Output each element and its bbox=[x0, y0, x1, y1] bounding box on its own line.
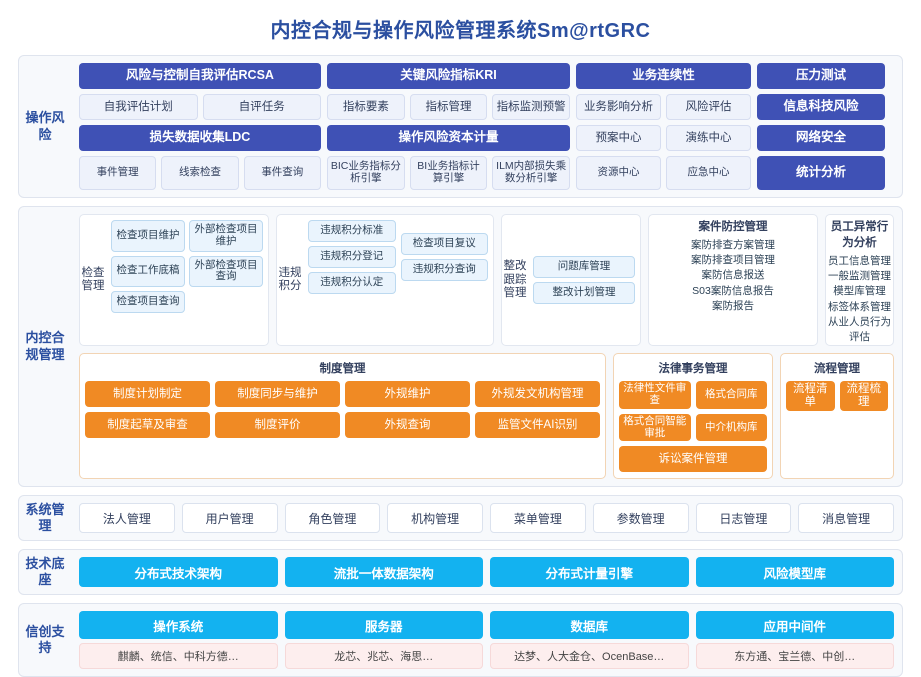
card-case-prevention: 案件防控管理 案防排查方案管理 案防排查项目管理 案防信息报送 S03案防信息报… bbox=[648, 214, 818, 346]
op-column-bcm: 业务连续性 业务影响分析 风险评估 预案中心 演练中心 资源中心 应急中心 bbox=[576, 63, 751, 190]
module-op-risk-capital[interactable]: 操作风险资本计量 bbox=[327, 125, 570, 151]
pill-issue-library[interactable]: 问题库管理 bbox=[533, 256, 635, 278]
box-title-policy-manage: 制度管理 bbox=[85, 358, 600, 381]
diagram-page: 内控合规与操作风险管理系统Sm@rtGRC 操作风险 风险与控制自我评估RCSA… bbox=[0, 0, 921, 640]
sub-clue-check[interactable]: 线索检查 bbox=[161, 156, 238, 190]
pill-grid-violation: 违规积分标准 违规积分登记 违规积分认定 bbox=[308, 220, 396, 294]
chip-batch-stream-data-architecture[interactable]: 流批一体数据架构 bbox=[285, 557, 484, 587]
chip-process-list[interactable]: 流程清单 bbox=[786, 381, 835, 411]
chip-policy-draft-review[interactable]: 制度起草及审查 bbox=[85, 412, 210, 438]
ldc-sub-row: 事件管理 线索检查 事件查询 bbox=[79, 156, 321, 190]
violation-points-columns: 违规积分标准 违规积分登记 违规积分认定 检查项目复议 违规积分查询 bbox=[308, 220, 488, 294]
card-side-rectification: 整改跟踪管理 bbox=[502, 215, 528, 345]
module-it-risk[interactable]: 信息科技风险 bbox=[757, 94, 885, 120]
sub-indicator-element[interactable]: 指标要素 bbox=[327, 94, 405, 120]
chip-litigation-case-manage[interactable]: 诉讼案件管理 bbox=[619, 446, 767, 472]
sub-event-manage[interactable]: 事件管理 bbox=[79, 156, 156, 190]
card-rectification-tracking: 整改跟踪管理 问题库管理 整改计划管理 bbox=[501, 214, 641, 346]
chip-server-vendors: 龙芯、兆芯、海思… bbox=[285, 643, 484, 669]
chip-middleware[interactable]: 应用中间件 bbox=[696, 611, 895, 639]
kri-sub-row: 指标要素 指标管理 指标监测预警 bbox=[327, 94, 570, 120]
case-prevention-line-2: 案防排查项目管理 bbox=[649, 253, 817, 268]
chip-risk-model-library[interactable]: 风险模型库 bbox=[696, 557, 895, 587]
employee-behavior-line-3: 模型库管理 bbox=[826, 284, 893, 299]
card-body-violation-points: 违规积分标准 违规积分登记 违规积分认定 检查项目复议 违规积分查询 bbox=[303, 215, 493, 345]
sub-drill-center[interactable]: 演练中心 bbox=[666, 125, 751, 151]
pill-grid-inspection: 检查项目维护 外部检查项目维护 检查工作底稿 外部检查项目查询 检查项目查询 bbox=[111, 220, 263, 313]
sub-bic-engine[interactable]: BIC业务指标分析引擎 bbox=[327, 156, 405, 190]
band-body-system-management: 法人管理 用户管理 角色管理 机构管理 菜单管理 参数管理 日志管理 消息管理 bbox=[71, 496, 902, 540]
xinchuang-col-database: 数据库 达梦、人大金仓、OcenBase… bbox=[490, 611, 689, 669]
employee-behavior-line-1: 员工信息管理 bbox=[826, 254, 893, 269]
chip-standard-contract-library[interactable]: 格式合同库 bbox=[696, 381, 768, 409]
pill-inspection-project-maintain[interactable]: 检查项目维护 bbox=[111, 220, 185, 252]
card-title-employee-behavior: 员工异常行为分析 bbox=[826, 215, 893, 254]
chip-operating-system[interactable]: 操作系统 bbox=[79, 611, 278, 639]
employee-behavior-line-5: 从业人员行为评估 bbox=[826, 315, 893, 345]
sub-event-query[interactable]: 事件查询 bbox=[244, 156, 321, 190]
band-operation-risk: 操作风险 风险与控制自我评估RCSA 自我评估计划 自评任务 损失数据收集LDC… bbox=[18, 55, 903, 198]
pill-inspection-project-query[interactable]: 检查项目查询 bbox=[111, 291, 185, 313]
band-label-system-management: 系统管理 bbox=[19, 496, 71, 540]
employee-behavior-line-2: 一般监测管理 bbox=[826, 269, 893, 284]
chip-operating-system-vendors: 麒麟、统信、中科方德… bbox=[79, 643, 278, 669]
chip-role-manage[interactable]: 角色管理 bbox=[285, 503, 381, 533]
chip-regulatory-ai-recognition[interactable]: 监管文件AI识别 bbox=[475, 412, 600, 438]
card-employee-behavior: 员工异常行为分析 员工信息管理 一般监测管理 模型库管理 标签体系管理 从业人员… bbox=[825, 214, 894, 346]
chip-user-manage[interactable]: 用户管理 bbox=[182, 503, 278, 533]
sub-risk-assessment[interactable]: 风险评估 bbox=[666, 94, 751, 120]
card-body-rectification: 问题库管理 整改计划管理 bbox=[528, 215, 640, 345]
sub-bi-engine[interactable]: BI业务指标计算引擎 bbox=[410, 156, 488, 190]
chip-intermediary-library[interactable]: 中介机构库 bbox=[696, 414, 768, 442]
band-system-management: 系统管理 法人管理 用户管理 角色管理 机构管理 菜单管理 参数管理 日志管理 … bbox=[18, 495, 903, 541]
band-body-xinchuang-support: 操作系统 麒麟、统信、中科方德… 服务器 龙芯、兆芯、海思… 数据库 达梦、人大… bbox=[71, 604, 902, 676]
module-business-continuity[interactable]: 业务连续性 bbox=[576, 63, 751, 89]
case-prevention-line-1: 案防排查方案管理 bbox=[649, 238, 817, 253]
chip-database[interactable]: 数据库 bbox=[490, 611, 689, 639]
chip-process-combing[interactable]: 流程梳理 bbox=[840, 381, 889, 411]
legal-row-2: 格式合同智能审批 中介机构库 bbox=[619, 414, 767, 442]
module-stress-test[interactable]: 压力测试 bbox=[757, 63, 885, 89]
module-kri[interactable]: 关键风险指标KRI bbox=[327, 63, 570, 89]
legal-row-1: 法律性文件审查 格式合同库 bbox=[619, 381, 767, 409]
chip-legal-entity-manage[interactable]: 法人管理 bbox=[79, 503, 175, 533]
operation-risk-grid: 风险与控制自我评估RCSA 自我评估计划 自评任务 损失数据收集LDC 事件管理… bbox=[79, 63, 894, 190]
chip-external-issuer-manage[interactable]: 外规发文机构管理 bbox=[475, 381, 600, 407]
band-internal-control: 内控合规管理 检查管理 检查项目维护 外部检查项目维护 检查工作底稿 外部检查项… bbox=[18, 206, 903, 487]
tech-base-row: 分布式技术架构 流批一体数据架构 分布式计量引擎 风险模型库 bbox=[79, 557, 894, 587]
module-rcsa[interactable]: 风险与控制自我评估RCSA bbox=[79, 63, 321, 89]
band-body-operation-risk: 风险与控制自我评估RCSA 自我评估计划 自评任务 损失数据收集LDC 事件管理… bbox=[71, 56, 902, 197]
op-column-rcsa: 风险与控制自我评估RCSA 自我评估计划 自评任务 损失数据收集LDC 事件管理… bbox=[79, 63, 321, 190]
rcsa-sub-row: 自我评估计划 自评任务 bbox=[79, 94, 321, 120]
xinchuang-row: 操作系统 麒麟、统信、中科方德… 服务器 龙芯、兆芯、海思… 数据库 达梦、人大… bbox=[79, 611, 894, 669]
band-label-internal-control: 内控合规管理 bbox=[19, 207, 71, 486]
pill-violation-standard[interactable]: 违规积分标准 bbox=[308, 220, 396, 242]
pill-grid-review-query: 检查项目复议 违规积分查询 bbox=[401, 220, 489, 294]
band-label-tech-base: 技术底座 bbox=[19, 550, 71, 594]
band-xinchuang-support: 信创支持 操作系统 麒麟、统信、中科方德… 服务器 龙芯、兆芯、海思… 数据库 … bbox=[18, 603, 903, 677]
chip-server[interactable]: 服务器 bbox=[285, 611, 484, 639]
sub-self-assessment-task[interactable]: 自评任务 bbox=[203, 94, 322, 120]
pill-inspection-workpaper[interactable]: 检查工作底稿 bbox=[111, 256, 185, 288]
legal-row-3: 诉讼案件管理 bbox=[619, 446, 767, 472]
pill-rectification-plan[interactable]: 整改计划管理 bbox=[533, 282, 635, 304]
chip-policy-sync-maintain[interactable]: 制度同步与维护 bbox=[215, 381, 340, 407]
bcm-sub-row-3: 资源中心 应急中心 bbox=[576, 156, 751, 190]
module-statistics-analysis[interactable]: 统计分析 bbox=[757, 156, 885, 190]
employee-behavior-line-4: 标签体系管理 bbox=[826, 300, 893, 315]
box-legal-affairs: 法律事务管理 法律性文件审查 格式合同库 格式合同智能审批 中介机构库 诉讼案件… bbox=[613, 353, 773, 479]
card-side-inspection: 检查管理 bbox=[80, 215, 106, 345]
pill-violation-query[interactable]: 违规积分查询 bbox=[401, 259, 489, 281]
card-side-violation-points: 违规积分 bbox=[277, 215, 303, 345]
pill-inspection-review[interactable]: 检查项目复议 bbox=[401, 233, 489, 255]
sub-resource-center[interactable]: 资源中心 bbox=[576, 156, 661, 190]
capital-sub-row: BIC业务指标分析引擎 BI业务指标计算引擎 ILM内部损失乘数分析引擎 bbox=[327, 156, 570, 190]
box-title-process-manage: 流程管理 bbox=[786, 358, 888, 381]
policy-row-1: 制度计划制定 制度同步与维护 外规维护 外规发文机构管理 bbox=[85, 381, 600, 407]
band-body-tech-base: 分布式技术架构 流批一体数据架构 分布式计量引擎 风险模型库 bbox=[71, 550, 902, 594]
case-prevention-line-5: 案防报告 bbox=[649, 299, 817, 314]
pill-external-inspection-maintain[interactable]: 外部检查项目维护 bbox=[189, 220, 263, 252]
chip-middleware-vendors: 东方通、宝兰德、中创… bbox=[696, 643, 895, 669]
box-policy-manage: 制度管理 制度计划制定 制度同步与维护 外规维护 外规发文机构管理 制度起草及审… bbox=[79, 353, 606, 479]
chip-org-manage[interactable]: 机构管理 bbox=[387, 503, 483, 533]
band-label-operation-risk: 操作风险 bbox=[19, 56, 71, 197]
internal-control-top-row: 检查管理 检查项目维护 外部检查项目维护 检查工作底稿 外部检查项目查询 检查项… bbox=[79, 214, 894, 346]
pill-violation-register[interactable]: 违规积分登记 bbox=[308, 246, 396, 268]
band-tech-base: 技术底座 分布式技术架构 流批一体数据架构 分布式计量引擎 风险模型库 bbox=[18, 549, 903, 595]
case-prevention-line-3: 案防信息报送 bbox=[649, 268, 817, 283]
sub-ilm-engine[interactable]: ILM内部损失乘数分析引擎 bbox=[492, 156, 570, 190]
chip-legal-doc-review[interactable]: 法律性文件审查 bbox=[619, 381, 691, 409]
sub-indicator-manage[interactable]: 指标管理 bbox=[410, 94, 488, 120]
card-inspection-manage: 检查管理 检查项目维护 外部检查项目维护 检查工作底稿 外部检查项目查询 检查项… bbox=[79, 214, 269, 346]
op-column-stress: 压力测试 信息科技风险 网络安全 统计分析 bbox=[757, 63, 885, 190]
chip-param-manage[interactable]: 参数管理 bbox=[593, 503, 689, 533]
chip-policy-evaluation[interactable]: 制度评价 bbox=[215, 412, 340, 438]
system-management-row: 法人管理 用户管理 角色管理 机构管理 菜单管理 参数管理 日志管理 消息管理 bbox=[79, 503, 894, 533]
pill-external-inspection-query[interactable]: 外部检查项目查询 bbox=[189, 256, 263, 288]
chip-menu-manage[interactable]: 菜单管理 bbox=[490, 503, 586, 533]
xinchuang-col-os: 操作系统 麒麟、统信、中科方德… bbox=[79, 611, 278, 669]
sub-bia[interactable]: 业务影响分析 bbox=[576, 94, 661, 120]
sub-emergency-center[interactable]: 应急中心 bbox=[666, 156, 751, 190]
chip-distributed-architecture[interactable]: 分布式技术架构 bbox=[79, 557, 278, 587]
page-title: 内控合规与操作风险管理系统Sm@rtGRC bbox=[18, 0, 903, 55]
chip-policy-plan[interactable]: 制度计划制定 bbox=[85, 381, 210, 407]
chip-log-manage[interactable]: 日志管理 bbox=[696, 503, 792, 533]
chip-external-rule-query[interactable]: 外规查询 bbox=[345, 412, 470, 438]
sub-self-assessment-plan[interactable]: 自我评估计划 bbox=[79, 94, 198, 120]
band-body-internal-control: 检查管理 检查项目维护 外部检查项目维护 检查工作底稿 外部检查项目查询 检查项… bbox=[71, 207, 902, 486]
chip-contract-smart-approval[interactable]: 格式合同智能审批 bbox=[619, 414, 691, 442]
xinchuang-col-server: 服务器 龙芯、兆芯、海思… bbox=[285, 611, 484, 669]
card-title-case-prevention: 案件防控管理 bbox=[649, 215, 817, 238]
bcm-sub-row-1: 业务影响分析 风险评估 bbox=[576, 94, 751, 120]
pill-grid-rectification: 问题库管理 整改计划管理 bbox=[533, 256, 635, 304]
policy-row-2: 制度起草及审查 制度评价 外规查询 监管文件AI识别 bbox=[85, 412, 600, 438]
sub-plan-center[interactable]: 预案中心 bbox=[576, 125, 661, 151]
box-process-manage: 流程管理 流程清单 流程梳理 bbox=[780, 353, 894, 479]
process-row-1: 流程清单 流程梳理 bbox=[786, 381, 888, 411]
card-violation-points: 违规积分 违规积分标准 违规积分登记 违规积分认定 检查项目复议 违规积分查询 bbox=[276, 214, 494, 346]
chip-external-rule-maintain[interactable]: 外规维护 bbox=[345, 381, 470, 407]
card-body-inspection: 检查项目维护 外部检查项目维护 检查工作底稿 外部检查项目查询 检查项目查询 bbox=[106, 215, 268, 345]
case-prevention-line-4: S03案防信息报告 bbox=[649, 284, 817, 299]
pill-violation-confirm[interactable]: 违规积分认定 bbox=[308, 272, 396, 294]
chip-distributed-measurement-engine[interactable]: 分布式计量引擎 bbox=[490, 557, 689, 587]
sub-indicator-monitor-alert[interactable]: 指标监测预警 bbox=[492, 94, 570, 120]
chip-message-manage[interactable]: 消息管理 bbox=[798, 503, 894, 533]
xinchuang-col-middleware: 应用中间件 东方通、宝兰德、中创… bbox=[696, 611, 895, 669]
band-label-xinchuang-support: 信创支持 bbox=[19, 604, 71, 676]
module-network-security[interactable]: 网络安全 bbox=[757, 125, 885, 151]
op-column-kri: 关键风险指标KRI 指标要素 指标管理 指标监测预警 操作风险资本计量 BIC业… bbox=[327, 63, 570, 190]
internal-control-bottom-row: 制度管理 制度计划制定 制度同步与维护 外规维护 外规发文机构管理 制度起草及审… bbox=[79, 353, 894, 479]
module-ldc[interactable]: 损失数据收集LDC bbox=[79, 125, 321, 151]
chip-database-vendors: 达梦、人大金仓、OcenBase… bbox=[490, 643, 689, 669]
bcm-sub-row-2: 预案中心 演练中心 bbox=[576, 125, 751, 151]
box-title-legal-affairs: 法律事务管理 bbox=[619, 358, 767, 381]
